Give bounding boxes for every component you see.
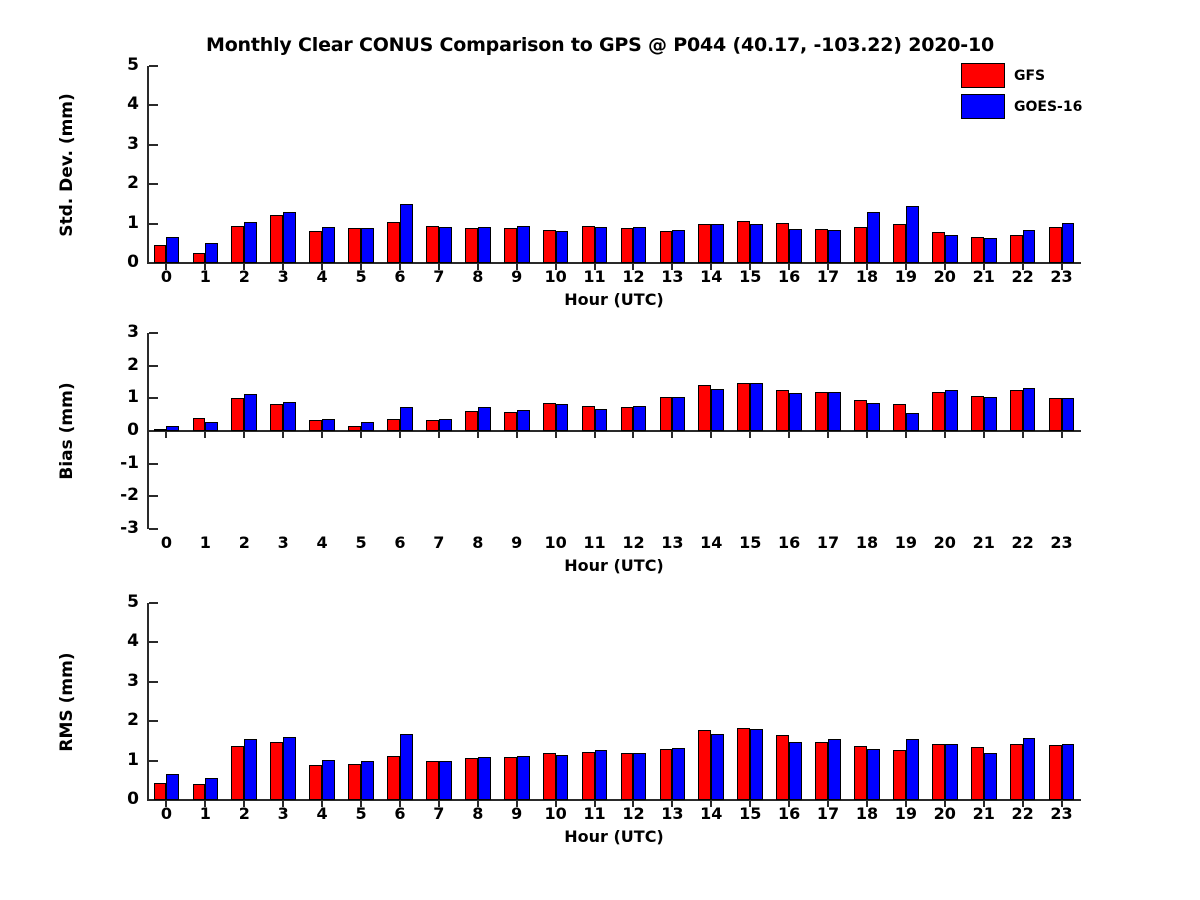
bar-bias-gfs-h12	[621, 407, 634, 431]
bar-bias-gfs-h23	[1049, 398, 1062, 431]
x-tick-label: 14	[691, 269, 731, 285]
x-tick	[165, 432, 167, 438]
bar-bias-goes-16-h23	[1062, 398, 1075, 431]
x-tick	[905, 432, 907, 438]
y-tick	[149, 183, 158, 185]
bar-rms-goes-16-h3	[283, 737, 296, 800]
x-tick-label: 17	[808, 535, 848, 551]
bar-std-dev-goes-16-h18	[867, 212, 880, 263]
bar-bias-gfs-h16	[776, 390, 789, 431]
bar-rms-goes-16-h0	[166, 774, 179, 800]
x-tick-label: 1	[185, 269, 225, 285]
x-tick	[1061, 432, 1063, 438]
bar-rms-gfs-h21	[971, 747, 984, 800]
bar-bias-goes-16-h13	[672, 397, 685, 431]
x-tick	[632, 432, 634, 438]
bar-rms-goes-16-h4	[322, 760, 335, 800]
x-tick-label: 20	[925, 269, 965, 285]
bar-std-dev-goes-16-h7	[439, 227, 452, 263]
bar-std-dev-goes-16-h15	[750, 224, 763, 263]
bar-bias-goes-16-h7	[439, 419, 452, 431]
x-tick-label: 17	[808, 806, 848, 822]
x-tick-label: 17	[808, 269, 848, 285]
bar-bias-gfs-h19	[893, 404, 906, 431]
bar-rms-goes-16-h12	[633, 753, 646, 800]
bar-bias-gfs-h3	[270, 404, 283, 431]
bar-std-dev-gfs-h6	[387, 222, 400, 263]
bar-std-dev-goes-16-h19	[906, 206, 919, 263]
x-tick-label: 10	[536, 535, 576, 551]
bar-rms-gfs-h11	[582, 752, 595, 800]
bar-rms-gfs-h8	[465, 758, 478, 800]
x-tick-label: 18	[847, 806, 887, 822]
bar-bias-gfs-h4	[309, 420, 322, 431]
y-tick	[149, 720, 158, 722]
bar-rms-goes-16-h15	[750, 729, 763, 800]
bar-rms-goes-16-h23	[1062, 744, 1075, 800]
bar-rms-gfs-h19	[893, 750, 906, 800]
x-tick	[477, 432, 479, 438]
bar-rms-goes-16-h20	[945, 744, 958, 800]
y-tick	[149, 65, 158, 67]
y-tick	[149, 104, 158, 106]
bar-bias-gfs-h18	[854, 400, 867, 431]
bar-bias-goes-16-h9	[517, 410, 530, 431]
bar-std-dev-goes-16-h1	[205, 243, 218, 263]
x-tick-label: 4	[302, 535, 342, 551]
y-tick	[149, 397, 158, 399]
x-axis-title: Hour (UTC)	[147, 827, 1081, 846]
y-tick	[149, 602, 158, 604]
y-tick-label: 1	[101, 389, 139, 406]
bar-rms-goes-16-h11	[595, 750, 608, 800]
x-tick	[827, 432, 829, 438]
bar-std-dev-gfs-h19	[893, 224, 906, 263]
bar-std-dev-gfs-h11	[582, 226, 595, 263]
bar-std-dev-gfs-h2	[231, 226, 244, 263]
bar-std-dev-gfs-h0	[154, 245, 167, 263]
bar-rms-goes-16-h22	[1023, 738, 1036, 800]
bar-rms-goes-16-h8	[478, 757, 491, 800]
x-tick-label: 16	[769, 535, 809, 551]
bar-std-dev-goes-16-h13	[672, 230, 685, 263]
y-tick-label: 0	[101, 422, 139, 439]
bar-std-dev-gfs-h1	[193, 253, 206, 263]
x-tick-label: 6	[380, 269, 420, 285]
y-tick-label: 4	[101, 633, 139, 650]
y-tick-label: 2	[101, 712, 139, 729]
bar-std-dev-goes-16-h14	[711, 224, 724, 263]
y-tick-label: 1	[101, 215, 139, 232]
bar-std-dev-goes-16-h11	[595, 227, 608, 263]
bar-rms-gfs-h4	[309, 765, 322, 800]
bar-std-dev-gfs-h22	[1010, 235, 1023, 263]
bar-rms-goes-16-h6	[400, 734, 413, 800]
y-tick	[149, 365, 158, 367]
bar-rms-gfs-h3	[270, 742, 283, 800]
x-tick-label: 15	[730, 269, 770, 285]
x-tick-label: 5	[341, 806, 381, 822]
bar-bias-gfs-h9	[504, 412, 517, 431]
bar-std-dev-gfs-h21	[971, 237, 984, 263]
bar-std-dev-goes-16-h2	[244, 222, 257, 263]
x-tick-label: 2	[224, 535, 264, 551]
x-tick	[671, 432, 673, 438]
bar-std-dev-goes-16-h21	[984, 238, 997, 263]
x-tick-label: 14	[691, 535, 731, 551]
bar-rms-goes-16-h16	[789, 742, 802, 800]
x-tick-label: 4	[302, 269, 342, 285]
y-axis-title: RMS (mm)	[57, 652, 77, 751]
bar-std-dev-gfs-h5	[348, 228, 361, 263]
panel-bias: -3-2-10123Bias (mm)012345678910111213141…	[147, 333, 1081, 529]
x-tick	[282, 432, 284, 438]
page-title: Monthly Clear CONUS Comparison to GPS @ …	[0, 34, 1200, 56]
x-tick-label: 16	[769, 806, 809, 822]
bar-bias-goes-16-h4	[322, 419, 335, 431]
x-tick-label: 0	[146, 269, 186, 285]
x-tick-label: 1	[185, 535, 225, 551]
x-tick-label: 18	[847, 269, 887, 285]
bar-std-dev-gfs-h9	[504, 228, 517, 263]
x-tick	[749, 432, 751, 438]
bar-rms-gfs-h15	[737, 728, 750, 800]
bar-rms-gfs-h23	[1049, 745, 1062, 800]
x-tick-label: 4	[302, 806, 342, 822]
bar-std-dev-goes-16-h3	[283, 212, 296, 263]
y-tick-label: 2	[101, 357, 139, 374]
bar-rms-gfs-h13	[660, 749, 673, 800]
bar-bias-gfs-h22	[1010, 390, 1023, 431]
x-tick-label: 20	[925, 535, 965, 551]
y-tick	[149, 223, 158, 225]
x-tick-label: 22	[1003, 535, 1043, 551]
bar-bias-goes-16-h1	[205, 422, 218, 431]
bar-bias-goes-16-h15	[750, 383, 763, 431]
bar-rms-goes-16-h13	[672, 748, 685, 800]
x-tick-label: 12	[613, 806, 653, 822]
x-tick-label: 13	[652, 535, 692, 551]
x-tick-label: 19	[886, 269, 926, 285]
y-tick	[149, 528, 158, 530]
bar-bias-goes-16-h21	[984, 397, 997, 431]
x-tick-label: 0	[146, 806, 186, 822]
y-tick-label: -1	[101, 455, 139, 472]
bar-bias-goes-16-h20	[945, 390, 958, 431]
bar-rms-gfs-h1	[193, 784, 206, 800]
bar-bias-goes-16-h0	[166, 426, 179, 431]
x-axis-title: Hour (UTC)	[147, 556, 1081, 575]
bar-std-dev-goes-16-h17	[828, 230, 841, 263]
bar-bias-gfs-h15	[737, 383, 750, 431]
x-tick-label: 2	[224, 269, 264, 285]
x-tick-label: 0	[146, 535, 186, 551]
bar-bias-goes-16-h19	[906, 413, 919, 431]
x-tick-label: 8	[458, 806, 498, 822]
y-tick-label: 0	[101, 791, 139, 808]
x-tick-label: 10	[536, 806, 576, 822]
bar-std-dev-gfs-h10	[543, 230, 556, 263]
bar-bias-gfs-h20	[932, 392, 945, 431]
bar-std-dev-gfs-h4	[309, 231, 322, 263]
bar-rms-gfs-h0	[154, 783, 167, 800]
y-tick-label: 0	[101, 254, 139, 271]
bar-std-dev-goes-16-h6	[400, 204, 413, 263]
x-tick-label: 2	[224, 806, 264, 822]
bar-rms-goes-16-h9	[517, 756, 530, 800]
bar-bias-goes-16-h3	[283, 402, 296, 431]
bar-rms-gfs-h14	[698, 730, 711, 800]
x-tick-label: 21	[964, 269, 1004, 285]
bar-bias-gfs-h14	[698, 385, 711, 431]
bar-std-dev-gfs-h7	[426, 226, 439, 263]
x-tick-label: 19	[886, 535, 926, 551]
bar-std-dev-gfs-h17	[815, 229, 828, 263]
x-tick	[516, 432, 518, 438]
bar-bias-goes-16-h22	[1023, 388, 1036, 431]
x-tick	[243, 432, 245, 438]
bar-rms-goes-16-h5	[361, 761, 374, 800]
y-tick-label: -2	[101, 487, 139, 504]
figure-canvas: Monthly Clear CONUS Comparison to GPS @ …	[0, 0, 1200, 900]
x-tick-label: 15	[730, 806, 770, 822]
bar-std-dev-goes-16-h9	[517, 226, 530, 263]
bar-bias-gfs-h13	[660, 397, 673, 431]
x-tick-label: 11	[575, 806, 615, 822]
bar-std-dev-gfs-h18	[854, 227, 867, 263]
y-tick	[149, 463, 158, 465]
x-tick-label: 6	[380, 806, 420, 822]
bar-bias-gfs-h17	[815, 392, 828, 431]
panel-std-dev: 012345Std. Dev. (mm)01234567891011121314…	[147, 66, 1081, 263]
bar-std-dev-goes-16-h22	[1023, 230, 1036, 263]
y-axis-line	[147, 66, 149, 263]
bar-rms-goes-16-h1	[205, 778, 218, 800]
y-axis-line	[147, 603, 149, 800]
bar-std-dev-gfs-h12	[621, 228, 634, 263]
x-tick	[399, 432, 401, 438]
bar-std-dev-goes-16-h20	[945, 235, 958, 263]
bar-rms-gfs-h5	[348, 764, 361, 800]
bar-std-dev-gfs-h3	[270, 215, 283, 263]
bar-rms-goes-16-h17	[828, 739, 841, 800]
x-tick	[1022, 432, 1024, 438]
x-tick-label: 23	[1042, 269, 1082, 285]
bar-rms-goes-16-h18	[867, 749, 880, 800]
y-tick-label: 3	[101, 673, 139, 690]
bar-std-dev-goes-16-h16	[789, 229, 802, 263]
x-tick-label: 12	[613, 535, 653, 551]
bar-bias-goes-16-h16	[789, 393, 802, 431]
x-tick-label: 1	[185, 806, 225, 822]
bar-std-dev-gfs-h23	[1049, 227, 1062, 263]
x-tick-label: 11	[575, 535, 615, 551]
bar-bias-goes-16-h10	[556, 404, 569, 431]
x-tick	[710, 432, 712, 438]
bar-rms-gfs-h22	[1010, 744, 1023, 800]
bar-std-dev-goes-16-h23	[1062, 223, 1075, 263]
bar-rms-goes-16-h2	[244, 739, 257, 800]
bar-bias-goes-16-h12	[633, 406, 646, 431]
bar-bias-goes-16-h14	[711, 389, 724, 431]
x-tick-label: 3	[263, 535, 303, 551]
bar-bias-gfs-h21	[971, 396, 984, 431]
y-tick-label: 2	[101, 175, 139, 192]
x-tick	[944, 432, 946, 438]
y-axis-title: Std. Dev. (mm)	[57, 93, 77, 237]
x-tick-label: 7	[419, 806, 459, 822]
bar-bias-gfs-h10	[543, 403, 556, 431]
x-tick-label: 15	[730, 535, 770, 551]
bar-rms-goes-16-h19	[906, 739, 919, 800]
x-tick-label: 7	[419, 269, 459, 285]
bar-std-dev-gfs-h13	[660, 231, 673, 263]
x-axis-title: Hour (UTC)	[147, 290, 1081, 309]
x-tick-label: 9	[497, 535, 537, 551]
x-tick-label: 3	[263, 806, 303, 822]
bar-rms-gfs-h17	[815, 742, 828, 800]
bar-std-dev-goes-16-h10	[556, 231, 569, 263]
bar-bias-goes-16-h6	[400, 407, 413, 431]
x-tick	[788, 432, 790, 438]
x-tick-label: 20	[925, 806, 965, 822]
x-tick-label: 8	[458, 535, 498, 551]
x-tick-label: 3	[263, 269, 303, 285]
bar-rms-gfs-h6	[387, 756, 400, 800]
bar-bias-gfs-h2	[231, 398, 244, 431]
x-tick-label: 16	[769, 269, 809, 285]
y-tick-label: 3	[101, 136, 139, 153]
x-tick	[983, 432, 985, 438]
x-tick-label: 5	[341, 535, 381, 551]
bar-rms-goes-16-h21	[984, 753, 997, 800]
bar-rms-gfs-h9	[504, 757, 517, 800]
x-tick-label: 13	[652, 269, 692, 285]
bar-bias-goes-16-h5	[361, 422, 374, 431]
x-tick-label: 21	[964, 535, 1004, 551]
bar-bias-gfs-h11	[582, 406, 595, 431]
x-tick-label: 9	[497, 269, 537, 285]
bar-rms-gfs-h7	[426, 761, 439, 800]
y-tick-label: 1	[101, 752, 139, 769]
bar-bias-gfs-h6	[387, 419, 400, 431]
x-tick-label: 23	[1042, 535, 1082, 551]
bar-std-dev-gfs-h14	[698, 224, 711, 263]
bar-rms-gfs-h20	[932, 744, 945, 800]
bar-bias-goes-16-h2	[244, 394, 257, 431]
y-tick-label: 4	[101, 96, 139, 113]
y-axis-title: Bias (mm)	[57, 382, 77, 479]
bar-std-dev-gfs-h16	[776, 223, 789, 263]
x-tick	[594, 432, 596, 438]
bar-rms-gfs-h2	[231, 746, 244, 800]
x-tick-label: 13	[652, 806, 692, 822]
y-tick	[149, 495, 158, 497]
bar-std-dev-goes-16-h4	[322, 227, 335, 263]
bar-rms-gfs-h12	[621, 753, 634, 800]
bar-std-dev-gfs-h15	[737, 221, 750, 263]
x-tick	[321, 432, 323, 438]
y-tick	[149, 144, 158, 146]
x-tick-label: 21	[964, 806, 1004, 822]
x-tick	[438, 432, 440, 438]
y-tick	[149, 681, 158, 683]
bar-bias-goes-16-h8	[478, 407, 491, 431]
bar-std-dev-gfs-h20	[932, 232, 945, 263]
x-tick-label: 23	[1042, 806, 1082, 822]
bar-rms-gfs-h10	[543, 753, 556, 800]
y-tick	[149, 332, 158, 334]
y-tick-label: 5	[101, 57, 139, 74]
bar-bias-goes-16-h17	[828, 392, 841, 431]
bar-std-dev-goes-16-h0	[166, 237, 179, 263]
x-tick-label: 6	[380, 535, 420, 551]
x-tick-label: 7	[419, 535, 459, 551]
bar-bias-gfs-h5	[348, 426, 361, 431]
bar-rms-goes-16-h14	[711, 734, 724, 800]
y-tick-label: -3	[101, 520, 139, 537]
bar-std-dev-goes-16-h8	[478, 227, 491, 263]
bar-std-dev-gfs-h8	[465, 228, 478, 263]
bar-bias-gfs-h7	[426, 420, 439, 431]
x-tick-label: 19	[886, 806, 926, 822]
bar-bias-goes-16-h11	[595, 409, 608, 431]
x-tick-label: 9	[497, 806, 537, 822]
y-tick-label: 3	[101, 324, 139, 341]
bar-bias-goes-16-h18	[867, 403, 880, 431]
bar-std-dev-goes-16-h12	[633, 227, 646, 263]
bar-bias-gfs-h1	[193, 418, 206, 431]
bar-rms-goes-16-h7	[439, 761, 452, 800]
x-tick-label: 10	[536, 269, 576, 285]
x-tick	[204, 432, 206, 438]
x-tick-label: 11	[575, 269, 615, 285]
x-tick-label: 14	[691, 806, 731, 822]
x-tick-label: 5	[341, 269, 381, 285]
x-tick-label: 22	[1003, 806, 1043, 822]
bar-rms-gfs-h16	[776, 735, 789, 800]
x-tick-label: 18	[847, 535, 887, 551]
x-tick-label: 12	[613, 269, 653, 285]
x-tick-label: 8	[458, 269, 498, 285]
bar-bias-gfs-h8	[465, 411, 478, 431]
y-tick-label: 5	[101, 594, 139, 611]
bar-std-dev-goes-16-h5	[361, 228, 374, 263]
x-tick	[360, 432, 362, 438]
y-tick	[149, 760, 158, 762]
x-tick-label: 22	[1003, 269, 1043, 285]
x-tick	[555, 432, 557, 438]
panel-rms: 012345RMS (mm)01234567891011121314151617…	[147, 603, 1081, 800]
x-tick	[866, 432, 868, 438]
bar-rms-gfs-h18	[854, 746, 867, 800]
y-tick	[149, 641, 158, 643]
bar-rms-goes-16-h10	[556, 755, 569, 800]
